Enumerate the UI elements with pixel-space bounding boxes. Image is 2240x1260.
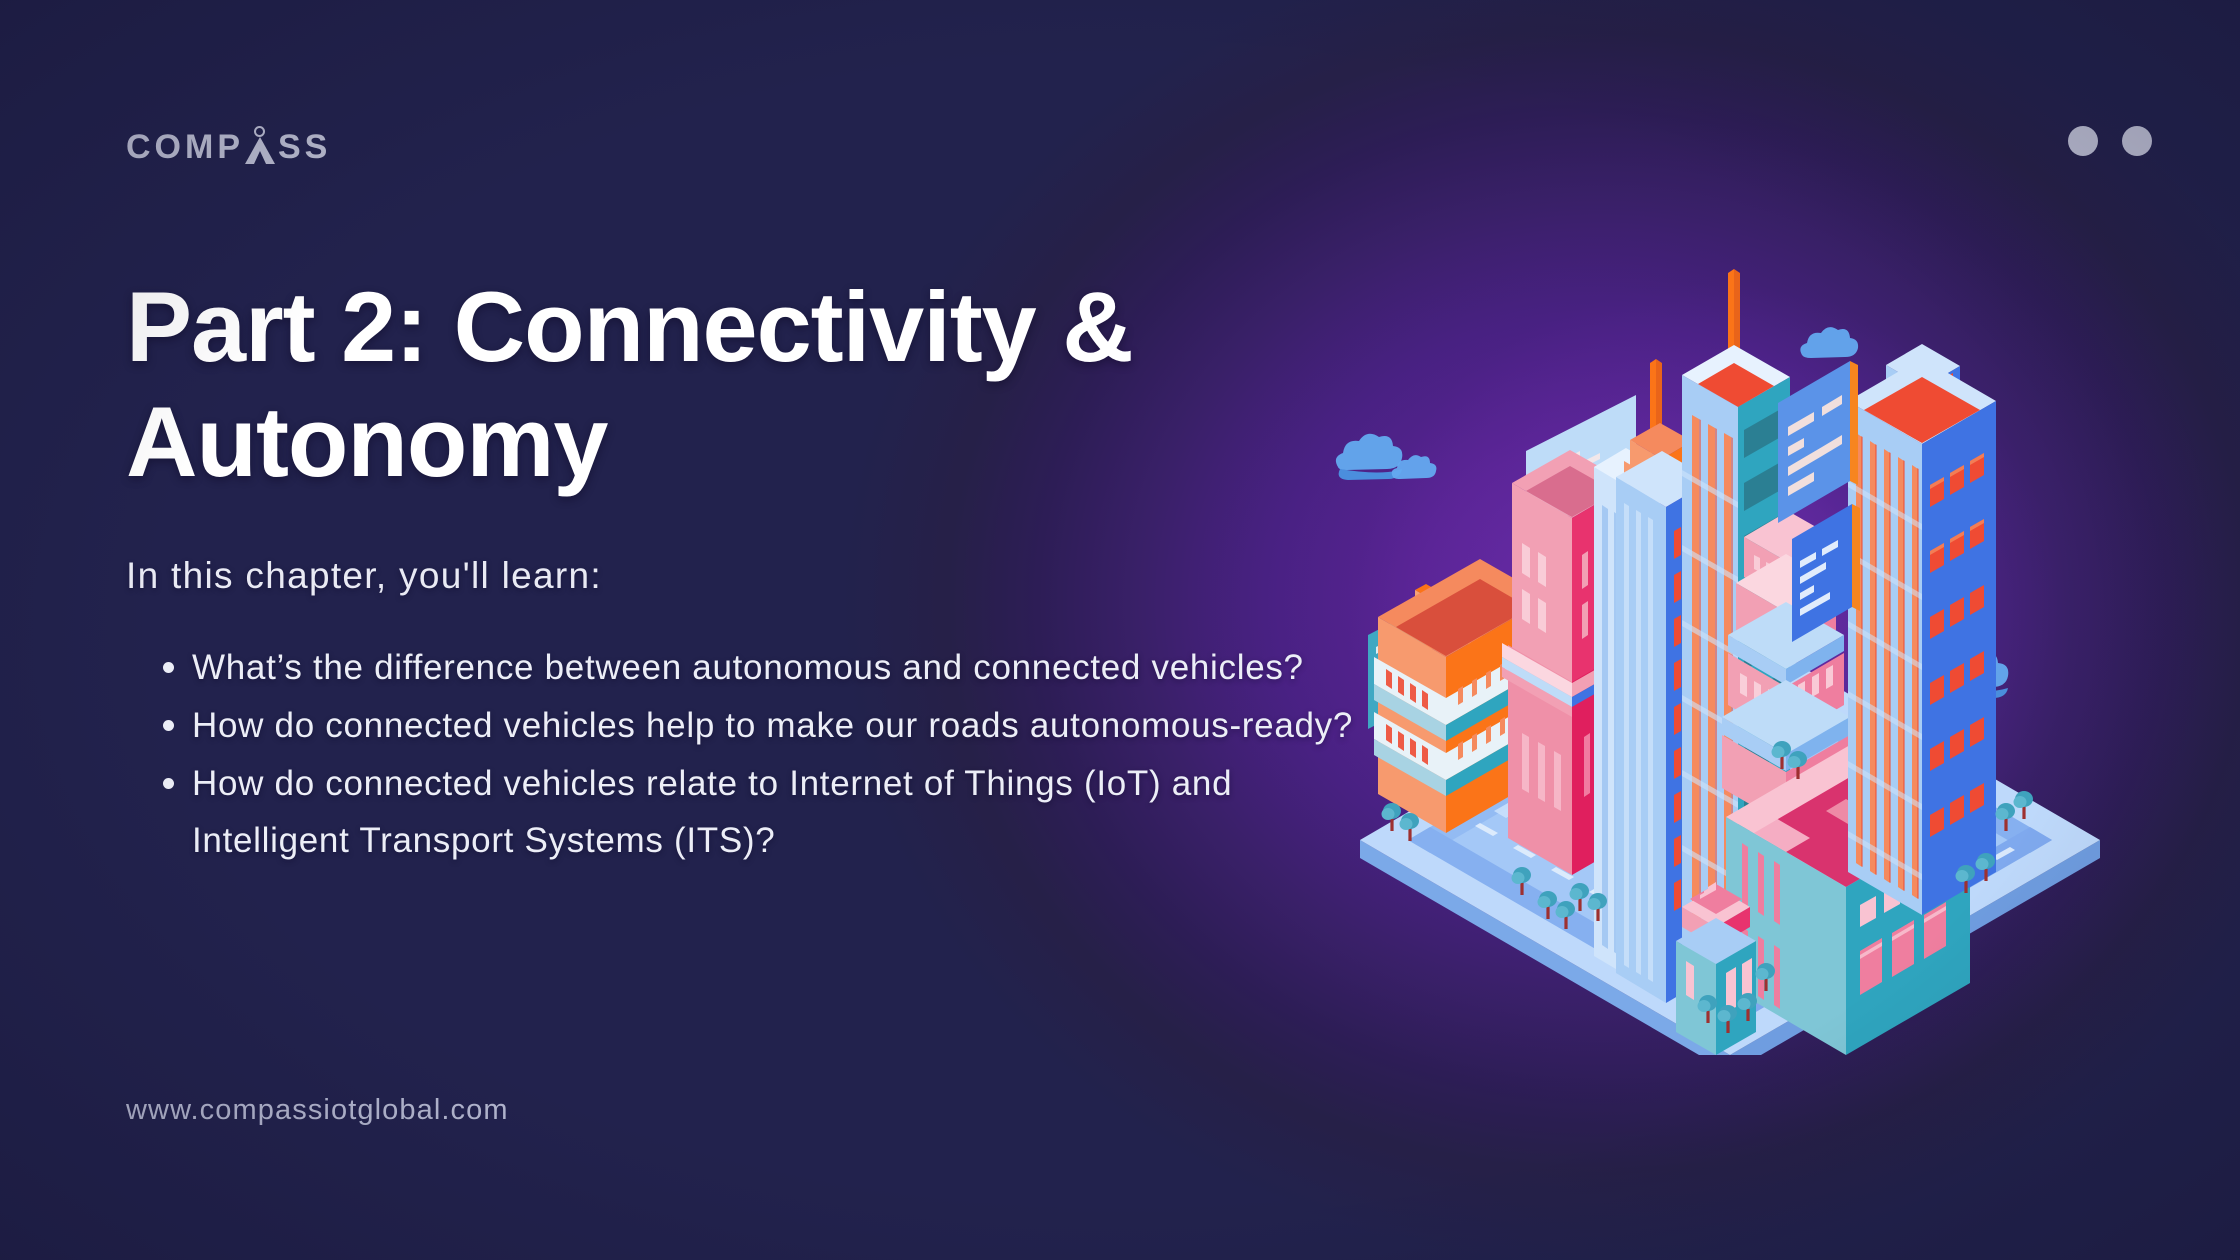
logo-text-before: COMP bbox=[126, 130, 244, 164]
list-item: How do connected vehicles help to make o… bbox=[126, 698, 1356, 754]
list-item: What’s the difference between autonomous… bbox=[126, 640, 1356, 696]
compass-logo[interactable]: COMP SS bbox=[126, 130, 331, 164]
footer-website-url[interactable]: www.compassiotglobal.com bbox=[126, 1094, 509, 1127]
lead-text: In this chapter, you'll learn: bbox=[126, 552, 1356, 600]
building-blue-right bbox=[1848, 344, 1996, 915]
building-small-front bbox=[1676, 882, 1756, 1055]
list-item: How do connected vehicles relate to Inte… bbox=[126, 756, 1356, 869]
page-title: Part 2: Connectivity & Autonomy bbox=[126, 270, 1316, 500]
dot-right-icon bbox=[2122, 126, 2152, 156]
dot-left-icon bbox=[2068, 126, 2098, 156]
logo-text-after: SS bbox=[278, 130, 331, 164]
corner-dots bbox=[2068, 126, 2152, 156]
content-column: Part 2: Connectivity & Autonomy In this … bbox=[126, 270, 1356, 871]
compass-needle-icon bbox=[245, 130, 275, 164]
slide-canvas: COMP SS Part 2: Connectivity & Autonomy … bbox=[0, 0, 2240, 1260]
isometric-city-illustration bbox=[1330, 255, 2130, 1055]
cloud-icon bbox=[1800, 327, 1858, 358]
learning-objectives-list: What’s the difference between autonomous… bbox=[126, 640, 1356, 869]
